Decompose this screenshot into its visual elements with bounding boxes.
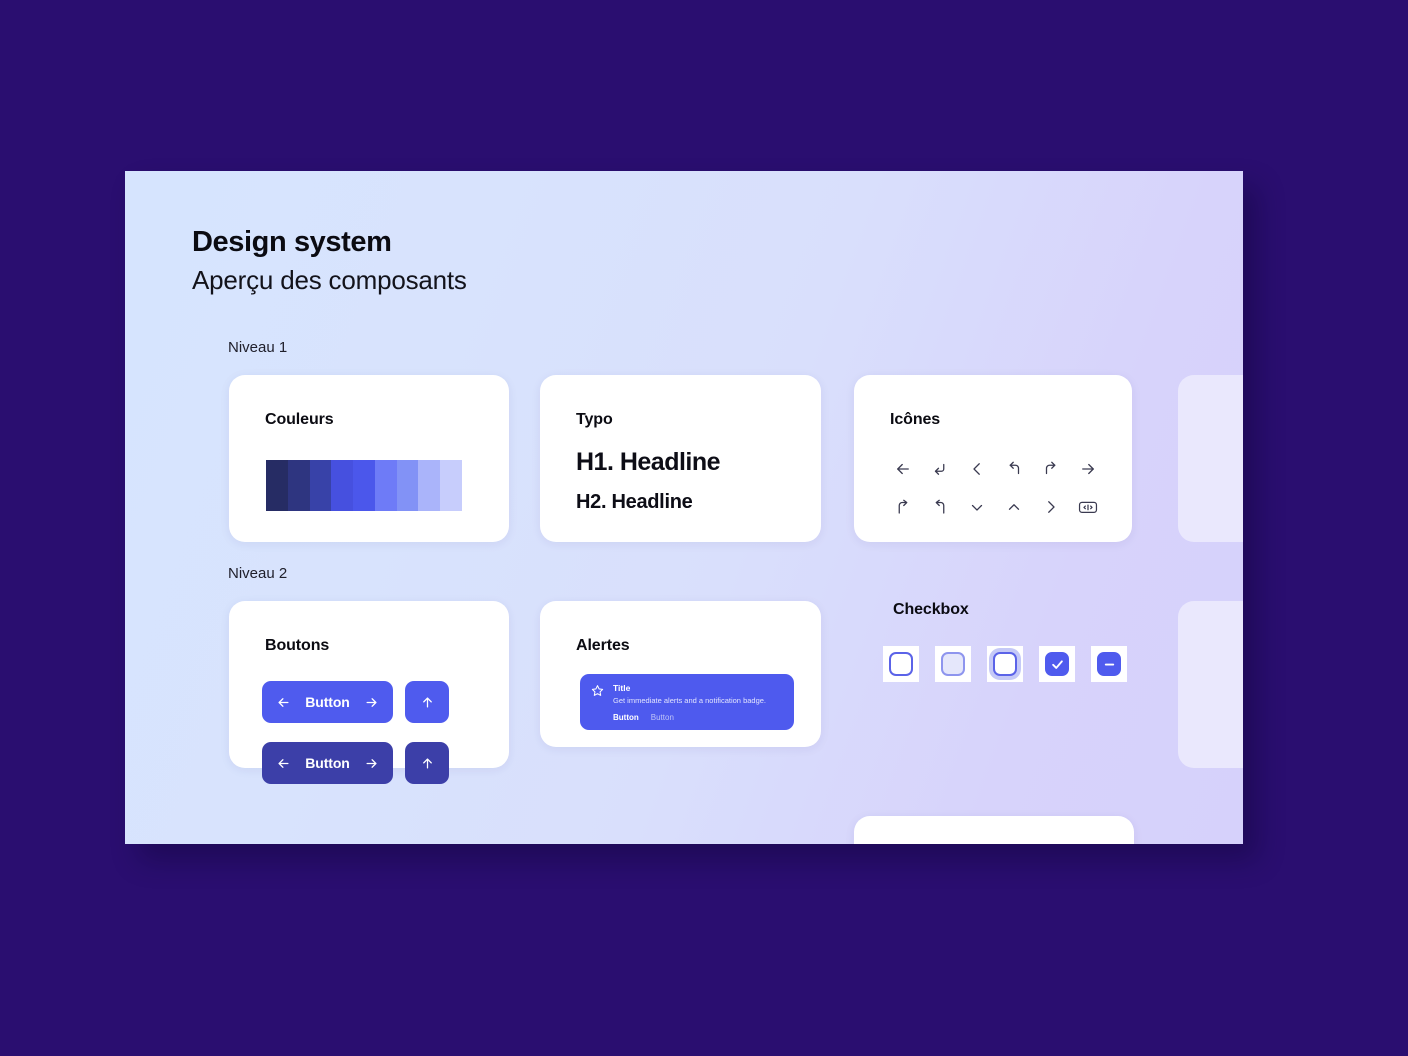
color-swatch-1 bbox=[266, 460, 288, 511]
arrow-right-icon bbox=[364, 756, 379, 771]
button-primary-square-up[interactable] bbox=[405, 681, 449, 723]
button-dark-wide[interactable]: Button bbox=[262, 742, 393, 784]
alert-actions: Button Button bbox=[613, 713, 783, 722]
card-title-couleurs: Couleurs bbox=[265, 411, 334, 429]
button-row-primary: Button bbox=[262, 681, 449, 723]
color-swatch-6 bbox=[375, 460, 397, 511]
page-subtitle: Aperçu des composants bbox=[192, 263, 467, 298]
arrow-turn-down-right-icon[interactable] bbox=[929, 458, 951, 480]
card-title-icones: Icônes bbox=[890, 411, 940, 429]
checkbox-hover-box bbox=[941, 652, 965, 676]
button-row-dark: Button bbox=[262, 742, 449, 784]
arrow-right-icon[interactable] bbox=[1077, 458, 1099, 480]
card-placeholder-bottom bbox=[854, 816, 1134, 844]
checkbox-checked[interactable] bbox=[1039, 646, 1075, 682]
page-title: Design system bbox=[192, 225, 467, 260]
alert-primary-button[interactable]: Button bbox=[613, 713, 639, 722]
design-system-panel: Design system Aperçu des composants Nive… bbox=[125, 171, 1243, 844]
card-title-boutons: Boutons bbox=[265, 637, 329, 655]
color-swatch-7 bbox=[397, 460, 419, 511]
button-dark-wide-label: Button bbox=[305, 755, 350, 771]
chevron-up-icon[interactable] bbox=[1003, 496, 1025, 518]
card-title-typo: Typo bbox=[576, 411, 613, 429]
card-typo: Typo H1. Headline H2. Headline bbox=[540, 375, 821, 542]
arrow-turn-up-right-icon[interactable] bbox=[1040, 458, 1062, 480]
button-dark-square-up[interactable] bbox=[405, 742, 449, 784]
alert-content: Title Get immediate alerts and a notific… bbox=[613, 683, 783, 730]
card-placeholder-right-bottom bbox=[1178, 601, 1243, 768]
minus-icon bbox=[1102, 657, 1117, 672]
alert-description: Get immediate alerts and a notification … bbox=[613, 696, 783, 707]
color-swatch-strip bbox=[266, 460, 462, 511]
keyboard-collapse-icon[interactable] bbox=[1077, 496, 1099, 518]
chevron-right-icon[interactable] bbox=[1040, 496, 1062, 518]
section-label-niveau-2: Niveau 2 bbox=[228, 565, 287, 582]
color-swatch-8 bbox=[418, 460, 440, 511]
card-boutons: Boutons Button Button bbox=[229, 601, 509, 768]
color-swatch-2 bbox=[288, 460, 310, 511]
card-couleurs: Couleurs bbox=[229, 375, 509, 542]
card-placeholder-right-top bbox=[1178, 375, 1243, 542]
checkbox-indeterminate-box bbox=[1097, 652, 1121, 676]
arrow-turn-up-right-corner-icon[interactable] bbox=[892, 496, 914, 518]
arrow-left-icon bbox=[276, 756, 291, 771]
color-swatch-9 bbox=[440, 460, 462, 511]
arrow-up-icon bbox=[420, 695, 435, 710]
typo-sample-h1: H1. Headline bbox=[576, 448, 720, 477]
checkbox-hover[interactable] bbox=[935, 646, 971, 682]
card-title-alertes: Alertes bbox=[576, 637, 630, 655]
card-title-checkbox: Checkbox bbox=[893, 601, 969, 619]
color-swatch-3 bbox=[310, 460, 332, 511]
checkbox-default-box bbox=[889, 652, 913, 676]
checkbox-indeterminate[interactable] bbox=[1091, 646, 1127, 682]
checkbox-focus-box bbox=[993, 652, 1017, 676]
chevron-down-icon[interactable] bbox=[966, 496, 988, 518]
checkbox-checked-box bbox=[1045, 652, 1069, 676]
check-icon bbox=[1050, 657, 1065, 672]
chevron-left-icon[interactable] bbox=[966, 458, 988, 480]
checkbox-default[interactable] bbox=[883, 646, 919, 682]
arrow-turn-up-left-icon[interactable] bbox=[1003, 458, 1025, 480]
alert-secondary-button[interactable]: Button bbox=[651, 713, 674, 722]
arrow-left-icon bbox=[276, 695, 291, 710]
checkbox-row bbox=[883, 646, 1127, 682]
typo-sample-h2: H2. Headline bbox=[576, 491, 692, 514]
color-swatch-5 bbox=[353, 460, 375, 511]
section-label-niveau-1: Niveau 1 bbox=[228, 339, 287, 356]
color-swatch-4 bbox=[331, 460, 353, 511]
arrow-turn-up-left-corner-icon[interactable] bbox=[929, 496, 951, 518]
page-header: Design system Aperçu des composants bbox=[192, 225, 467, 298]
arrow-left-icon[interactable] bbox=[892, 458, 914, 480]
icon-grid bbox=[884, 450, 1106, 526]
arrow-up-icon bbox=[420, 756, 435, 771]
card-icones: Icônes bbox=[854, 375, 1132, 542]
checkbox-focus[interactable] bbox=[987, 646, 1023, 682]
card-alertes: Alertes Title Get immediate alerts and a… bbox=[540, 601, 821, 747]
star-icon bbox=[591, 683, 604, 730]
alert-title: Title bbox=[613, 683, 783, 694]
button-primary-wide-label: Button bbox=[305, 694, 350, 710]
button-primary-wide[interactable]: Button bbox=[262, 681, 393, 723]
arrow-right-icon bbox=[364, 695, 379, 710]
alert-banner: Title Get immediate alerts and a notific… bbox=[580, 674, 794, 730]
